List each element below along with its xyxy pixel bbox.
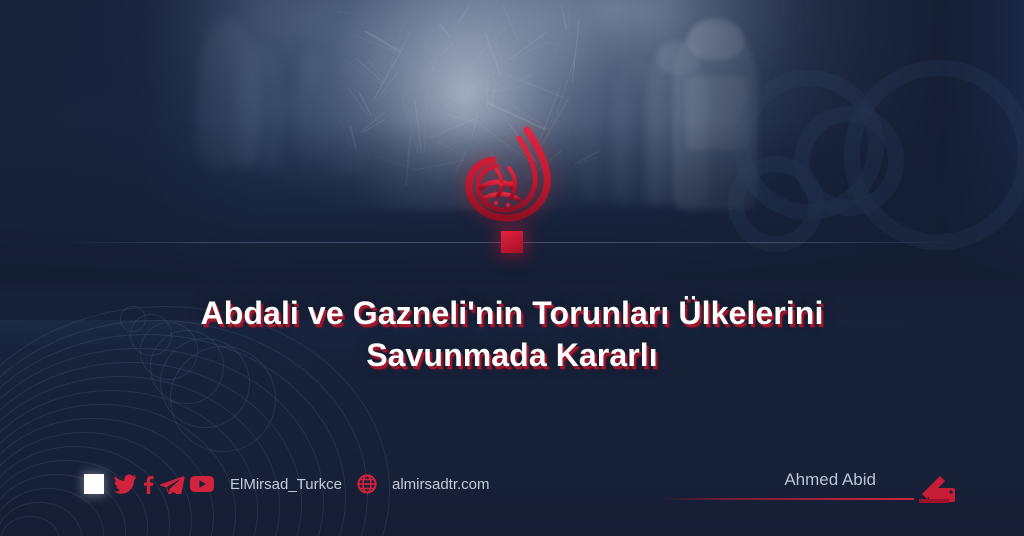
social-icon-row	[113, 474, 215, 494]
news-graphic-card: Abdali ve Gazneli'nin Torunları Ülkeleri…	[0, 0, 1024, 536]
brand-logo-block	[0, 126, 1024, 222]
website-url: almirsadtr.com	[392, 476, 490, 493]
author-block: Ahmed Abid	[660, 470, 960, 516]
headline-line-1: Abdali ve Gazneli'nin Torunları Ülkeleri…	[64, 292, 960, 334]
footer-social-bar: ElMirsad_Turkce almirsadtr.com	[84, 474, 490, 494]
page-title: Abdali ve Gazneli'nin Torunları Ülkeleri…	[64, 292, 960, 376]
facebook-icon[interactable]	[141, 474, 155, 494]
headline-line-2: Savunmada Kararlı	[64, 334, 960, 376]
divider-accent-square	[501, 231, 523, 253]
twitter-icon[interactable]	[113, 474, 137, 494]
telegram-icon[interactable]	[159, 474, 185, 494]
elmirsad-arabic-calligraphy-logo	[453, 126, 571, 222]
youtube-icon[interactable]	[189, 474, 215, 494]
background-photo	[0, 0, 1024, 536]
signature-hand-icon	[914, 472, 960, 506]
globe-icon	[357, 474, 377, 494]
social-handle: ElMirsad_Turkce	[230, 476, 342, 493]
author-underline	[660, 498, 914, 500]
white-square-icon	[84, 474, 104, 494]
author-name: Ahmed Abid	[784, 470, 876, 490]
